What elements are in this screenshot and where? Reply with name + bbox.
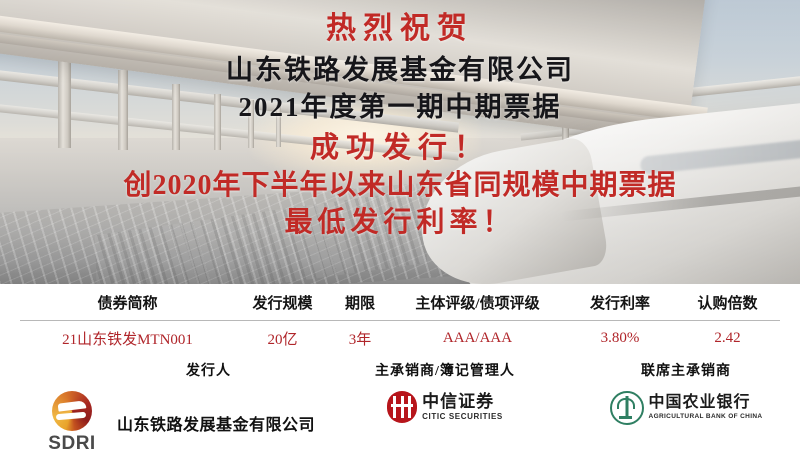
bond-details-table: 债券简称 发行规模 期限 主体评级/债项评级 发行利率 认购倍数 21山东铁发M… bbox=[20, 284, 780, 354]
cell-bond-name: 21山东铁发MTN001 bbox=[20, 321, 235, 355]
cell-subscription: 2.42 bbox=[675, 321, 780, 355]
lead-underwriter-block: 主承销商/簿记管理人 中信证券 CITIC SECURITIES bbox=[330, 360, 560, 423]
cell-issue-size: 20亿 bbox=[235, 321, 330, 355]
column-header-term: 期限 bbox=[330, 284, 390, 321]
cell-coupon-rate: 3.80% bbox=[565, 321, 675, 355]
table-row: 21山东铁发MTN001 20亿 3年 AAA/AAA 3.80% 2.42 bbox=[20, 321, 780, 355]
bond-details-table-zone: 债券简称 发行规模 期限 主体评级/债项评级 发行利率 认购倍数 21山东铁发M… bbox=[0, 284, 800, 352]
issuer-identity: SDRI 山东铁路发展基金有限公司 bbox=[36, 391, 315, 450]
citic-logo: 中信证券 CITIC SECURITIES bbox=[387, 391, 503, 423]
issuer-role-label: 发行人 bbox=[186, 360, 231, 380]
lead-underwriter-role-label: 主承销商/簿记管理人 bbox=[375, 360, 515, 380]
sdri-logo: SDRI bbox=[36, 391, 108, 450]
column-header-coupon-rate: 发行利率 bbox=[565, 284, 675, 321]
lead-underwriter-identity: 中信证券 CITIC SECURITIES bbox=[387, 391, 503, 423]
column-header-ratings: 主体评级/债项评级 bbox=[390, 284, 565, 321]
headline-line-1: 热烈祝贺 bbox=[326, 14, 474, 44]
issuer-name: 山东铁路发展基金有限公司 bbox=[117, 411, 315, 435]
abc-circle-logo-icon bbox=[610, 391, 644, 425]
joint-underwriter-identity: 中国农业银行 AGRICULTURAL BANK OF CHINA bbox=[610, 391, 763, 425]
headline-line-3: 2021年度第一期中期票据 bbox=[239, 94, 562, 121]
column-header-subscription: 认购倍数 bbox=[675, 284, 780, 321]
abc-wordmark: 中国农业银行 AGRICULTURAL BANK OF CHINA bbox=[649, 395, 763, 421]
joint-underwriter-role-label: 联席主承销商 bbox=[641, 360, 731, 380]
joint-underwriter-block: 联席主承销商 中国农业银行 AGRICULTURAL BANK OF CHINA bbox=[586, 360, 786, 425]
citic-seal-logo-icon bbox=[387, 391, 417, 423]
footer-parties: 发行人 SDRI 山东铁路发展基金有限公司 主承销商/簿记管理人 中信证券 bbox=[0, 352, 800, 450]
cell-term: 3年 bbox=[330, 321, 390, 355]
issuer-block: 发行人 SDRI 山东铁路发展基金有限公司 bbox=[36, 360, 366, 450]
headline-block: 热烈祝贺 山东铁路发展基金有限公司 2021年度第一期中期票据 成功发行！ 创2… bbox=[0, 0, 800, 284]
citic-name-en: CITIC SECURITIES bbox=[422, 413, 503, 421]
column-header-issue-size: 发行规模 bbox=[235, 284, 330, 321]
abc-name-cn: 中国农业银行 bbox=[649, 395, 763, 411]
citic-name-cn: 中信证券 bbox=[422, 393, 503, 410]
sdri-wordmark: SDRI bbox=[48, 433, 95, 450]
headline-line-2: 山东铁路发展基金有限公司 bbox=[226, 57, 574, 84]
cell-ratings: AAA/AAA bbox=[390, 321, 565, 355]
headline-line-4: 成功发行！ bbox=[310, 134, 490, 163]
citic-wordmark: 中信证券 CITIC SECURITIES bbox=[422, 393, 503, 421]
sdri-circle-logo-icon bbox=[52, 391, 92, 431]
abc-logo: 中国农业银行 AGRICULTURAL BANK OF CHINA bbox=[610, 391, 763, 425]
headline-line-6: 最低发行利率！ bbox=[284, 209, 515, 237]
headline-line-5: 创2020年下半年以来山东省同规模中期票据 bbox=[123, 172, 676, 200]
announcement-poster: 热烈祝贺 山东铁路发展基金有限公司 2021年度第一期中期票据 成功发行！ 创2… bbox=[0, 0, 800, 450]
abc-name-en: AGRICULTURAL BANK OF CHINA bbox=[649, 414, 763, 421]
table-header-row: 债券简称 发行规模 期限 主体评级/债项评级 发行利率 认购倍数 bbox=[20, 284, 780, 321]
column-header-bond-name: 债券简称 bbox=[20, 284, 235, 321]
